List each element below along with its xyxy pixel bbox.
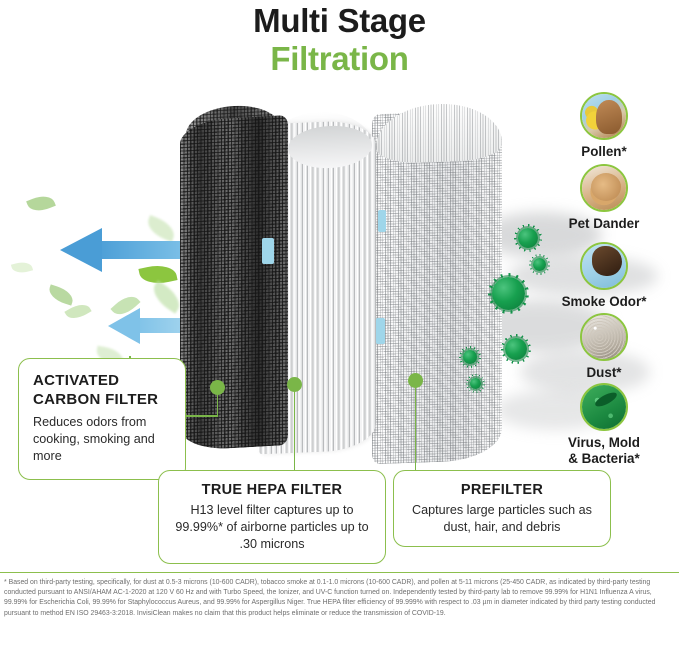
captured-item-dust[interactable]: Dust* (530, 313, 678, 381)
carbon-filter-mesh (180, 115, 288, 451)
filter-tab-accent (378, 210, 386, 232)
callout-activated-carbon-filter[interactable]: ACTIVATED CARBON FILTER Reduces odors fr… (18, 358, 186, 480)
virus-icon (580, 383, 628, 431)
captured-item-smoke-odor[interactable]: Smoke Odor* (530, 242, 678, 310)
smoke-odor-icon (580, 242, 628, 290)
pollen-icon (580, 92, 628, 140)
particle-icon (505, 338, 527, 360)
prefilter-mesh-top (376, 102, 502, 164)
infographic-canvas: Multi Stage Filtration (0, 0, 679, 649)
captured-item-label: Pet Dander (530, 216, 678, 232)
filter-tab-accent (376, 318, 385, 344)
callout-title: PREFILTER (406, 481, 598, 499)
callout-body: H13 level filter captures up to 99.99%* … (171, 502, 373, 553)
callout-body: Reduces odors from cooking, smoking and … (33, 414, 171, 465)
callout-anchor-dot (408, 373, 423, 388)
pet-dander-icon (580, 164, 628, 212)
callout-leader-line (415, 381, 417, 471)
captured-item-virus-mold-bacteria[interactable]: Virus, Mold & Bacteria* (530, 383, 678, 467)
callout-anchor-dot (210, 380, 225, 395)
dust-icon (580, 313, 628, 361)
airflow-arrow-icon (60, 228, 190, 272)
callout-title: TRUE HEPA FILTER (171, 481, 373, 499)
particle-icon (470, 378, 481, 389)
prefilter-mesh (372, 110, 502, 465)
callout-title: ACTIVATED CARBON FILTER (33, 371, 171, 409)
callout-anchor-dot (287, 377, 302, 392)
footnote-divider (0, 572, 679, 573)
callout-prefilter[interactable]: PREFILTER Captures large particles such … (393, 470, 611, 547)
callout-true-hepa-filter[interactable]: TRUE HEPA FILTER H13 level filter captur… (158, 470, 386, 564)
callout-leader-line (294, 385, 296, 471)
captured-item-label: Dust* (530, 365, 678, 381)
filter-tab-accent (262, 238, 274, 264)
leaf-decoration (11, 260, 33, 276)
particle-icon (463, 350, 477, 364)
leaf-decoration (26, 192, 56, 216)
callout-body: Captures large particles such as dust, h… (406, 502, 598, 536)
leaf-decoration (46, 284, 75, 305)
particle-icon (492, 277, 525, 310)
captured-item-label: Smoke Odor* (530, 294, 678, 310)
captured-item-pollen[interactable]: Pollen* (530, 92, 678, 160)
captured-item-label: Pollen* (530, 144, 678, 160)
footnote-text: * Based on third-party testing, specific… (0, 578, 679, 619)
captured-item-label: Virus, Mold & Bacteria* (530, 435, 678, 467)
captured-item-pet-dander[interactable]: Pet Dander (530, 164, 678, 232)
